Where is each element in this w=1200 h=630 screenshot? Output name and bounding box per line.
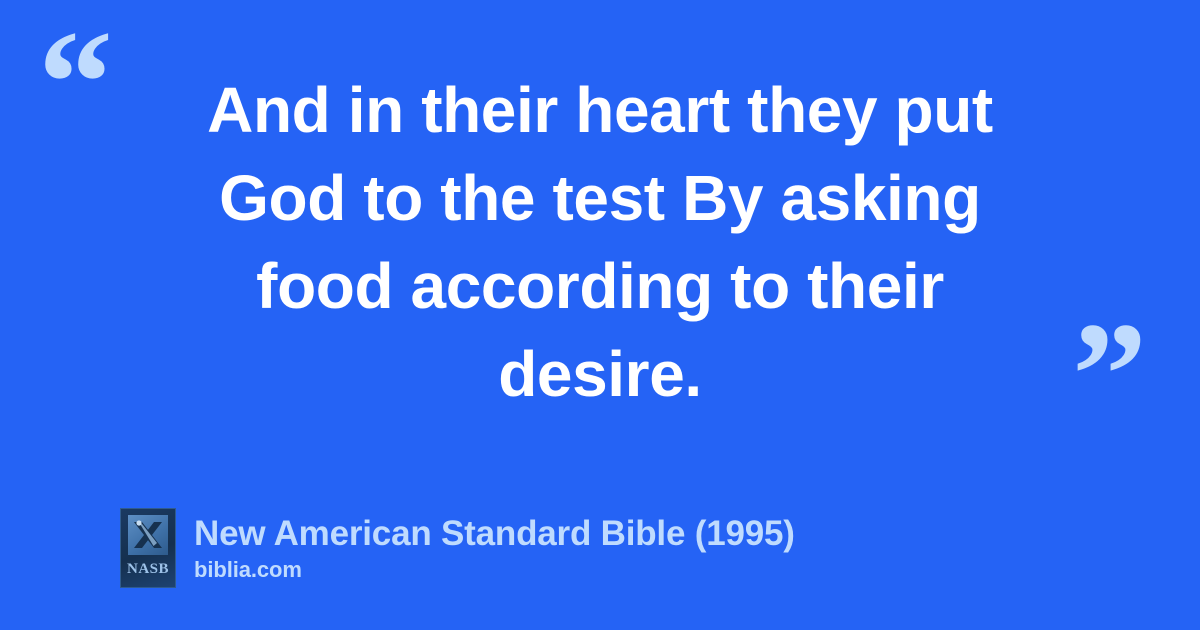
close-quote-icon: ” xyxy=(1072,300,1147,450)
quote-card: “ And in their heart they put God to the… xyxy=(0,0,1200,630)
attribution-text: New American Standard Bible (1995) bibli… xyxy=(194,513,795,583)
quote-line: And in their heart they put xyxy=(150,66,1050,154)
quote-line: God to the test By asking xyxy=(150,154,1050,242)
quote-line: food according to their xyxy=(150,242,1050,330)
source-title: New American Standard Bible (1995) xyxy=(194,513,795,555)
nasb-wordmark: NASB xyxy=(127,562,169,577)
nasb-logo-icon: NASB xyxy=(120,508,176,588)
quote-line: desire. xyxy=(150,330,1050,418)
open-quote-icon: “ xyxy=(38,8,113,158)
attribution: NASB New American Standard Bible (1995) … xyxy=(120,508,795,588)
nasb-glyph-icon xyxy=(128,515,168,555)
quote-text: And in their heart they put God to the t… xyxy=(150,66,1050,418)
source-site-link[interactable]: biblia.com xyxy=(194,557,795,583)
